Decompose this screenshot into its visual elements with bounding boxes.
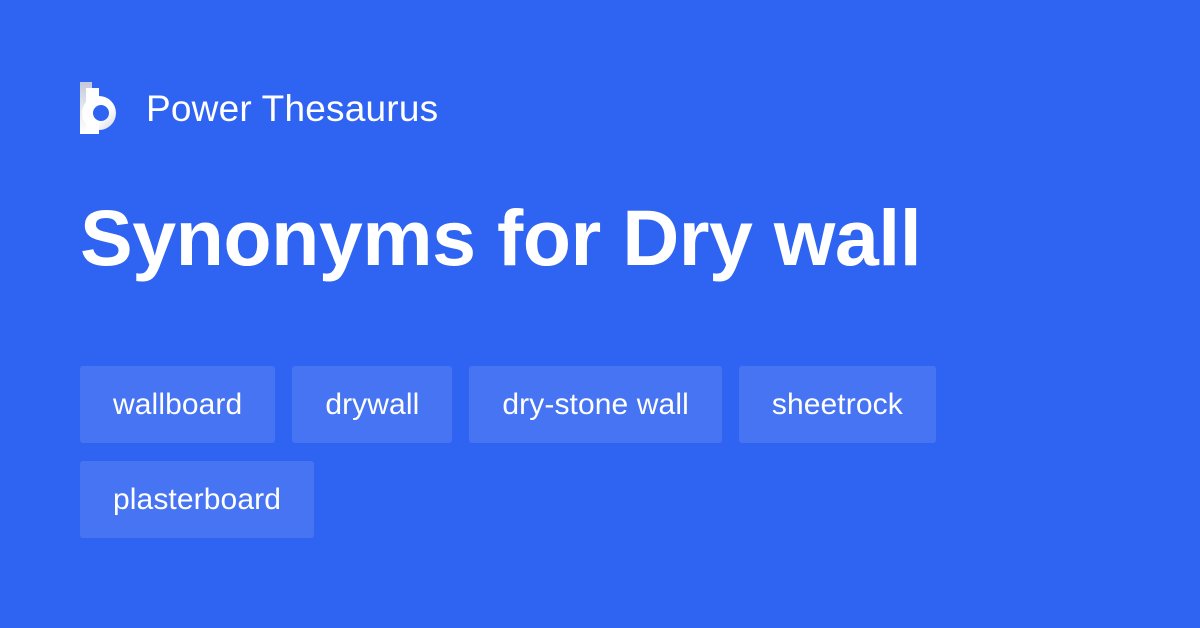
synonym-chip[interactable]: sheetrock [739, 366, 936, 443]
share-card: Power Thesaurus Synonyms for Dry wall wa… [0, 0, 1200, 628]
brand-name: Power Thesaurus [146, 90, 438, 127]
synonym-chip[interactable]: wallboard [80, 366, 275, 443]
synonym-chip[interactable]: plasterboard [80, 461, 314, 538]
brand-header[interactable]: Power Thesaurus [80, 82, 438, 134]
synonym-chip-list: wallboard drywall dry-stone wall sheetro… [80, 366, 1120, 538]
power-thesaurus-b-logo-icon [80, 82, 126, 134]
synonym-chip[interactable]: dry-stone wall [469, 366, 721, 443]
synonym-chip[interactable]: drywall [292, 366, 452, 443]
page-title: Synonyms for Dry wall [80, 198, 921, 277]
